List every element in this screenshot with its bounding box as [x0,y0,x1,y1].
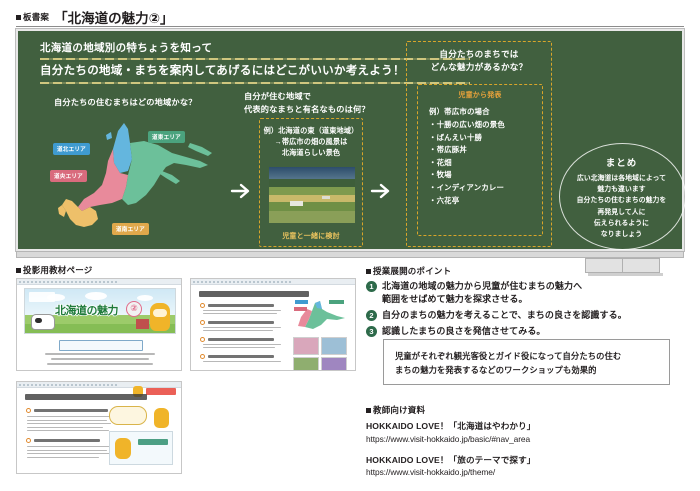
thumb3-text-line [27,453,111,454]
summary-body: 広い北海道は各地域によって 魅力も違います 自分たちの住むまちの魅力を 再発見し… [559,173,684,240]
thumb2-map-icon [293,299,347,333]
arrow-right-icon-2 [370,181,396,201]
question-middle-line1: 自分が住む地域で [244,91,370,104]
chalk-tray-shadow [588,273,663,276]
ideas-box: 児童から発表 例）帯広市の場合 ・十勝の広い畑の景色 ・ばんえい十勝 ・帯広豚丼… [406,41,552,247]
map-label-dohoku: 道北エリア [53,143,90,155]
thumb1-button [59,340,143,351]
point-text: 自分のまちの魅力を考えることで、まちの良さを認識する。 [382,309,627,322]
example-box-text: 例）北海道の東（道東地域） →帯広市の畑の風景は 北海道らしい景色 [260,125,362,158]
ideas-list-item: ・帯広豚丼 [429,144,542,157]
hero-title: 北海道の魅力 [55,302,118,318]
thumb2-text-line [203,330,273,331]
projection-heading: 投影用教材ページ [16,264,92,276]
teacher-refs-heading-text: 教師向け資料 [373,404,425,416]
teacher-ref-item: HOKKAIDO LOVE！「北海道はやわかり」 https://www.vis… [366,420,686,444]
summary-title: まとめ [559,155,684,169]
example-line1: 例）北海道の東（道東地域） [260,125,362,136]
thumb-toolbar [191,279,355,285]
hero-barn [136,319,149,329]
ideas-example-title: 例）帯広市の場合 [429,106,542,117]
question-middle: 自分が住む地域で 代表的なまちと有名なものは何？ [244,91,370,116]
thumb2-text-line [203,313,277,314]
thumb1-text-line [47,363,153,365]
point-item: 1 北海道の地域の魅力から児童が住むまちの魅力へ 範囲をせばめて魅力を探求させる… [366,280,686,306]
teacher-ref-url[interactable]: https://www.visit-hokkaido.jp/theme/ [366,467,686,477]
summary-line: 伝えられるように [559,218,684,229]
thumb3-bullet-icon [26,408,31,413]
thumb3-text-line [27,430,109,431]
thumb3-bullet-icon [26,438,31,443]
hero-badge: ② [126,301,142,317]
bullet-square-icon [366,269,371,274]
thumb1-hero-banner: 北海道の魅力 ② [24,288,176,334]
thumb3-mascot [154,408,169,428]
ideas-list-item: ・花畑 [429,157,542,170]
ideas-box-inner: 児童から発表 例）帯広市の場合 ・十勝の広い畑の景色 ・ばんえい十勝 ・帯広豚丼… [417,84,543,236]
question-left: 自分たちの住むまちはどの地域かな？ [54,97,197,110]
arrow-right-icon-1 [230,181,256,201]
example-line3: 北海道らしい景色 [260,147,362,158]
projection-thumbnail-3[interactable] [16,381,182,474]
example-box-caption: 児童と一緒に検討 [260,231,362,241]
map-island-etorofu [160,171,180,184]
thumb2-text-line [203,344,281,345]
thumb2-title [199,291,309,297]
thumb3-text-line [27,427,103,428]
projection-thumbnail-2[interactable] [190,278,356,371]
teacher-ref-title: HOKKAIDO LOVE！「北海道はやわかり」 [366,420,686,432]
thumb1-text-line [51,358,149,360]
thumb2-heading-line [208,355,274,358]
thumb3-text-line [27,446,111,447]
thumb2-text-line [203,310,281,311]
projection-thumbnail-1[interactable]: 北海道の魅力 ② [16,278,182,371]
page-title-text: 「北海道の魅力②」 [54,7,173,27]
chalkboard-frame-bottom [16,251,684,258]
thumb3-card-logo [138,439,168,445]
teacher-ref-item: HOKKAIDO LOVE！「旅のテーマで探す」 https://www.vis… [366,454,686,478]
map-label-doto: 道東エリア [148,131,185,143]
photo-field-band-4 [269,211,355,223]
ideas-list-item: ・牧場 [429,169,542,182]
points-list: 1 北海道の地域の魅力から児童が住むまちの魅力へ 範囲をせばめて魅力を探求させる… [366,280,686,341]
thumb2-bullet-icon [200,354,205,359]
hero-mascot [150,303,170,331]
teacher-refs-list: HOKKAIDO LOVE！「北海道はやわかり」 https://www.vis… [366,420,686,487]
map-label-doou: 道央エリア [50,170,87,182]
thumb-toolbar-dots [19,384,117,386]
map-label-donan: 道南エリア [112,223,149,235]
point-text: 北海道の地域の魅力から児童が住むまちの魅力へ 範囲をせばめて魅力を探求させる。 [382,280,582,306]
summary-line: なりましょう [559,229,684,240]
bullet-square-icon [366,408,371,413]
thumb-toolbar-dots [193,281,291,283]
ideas-list-item: ・六花亭 [429,195,542,208]
thumb3-text-line [27,420,107,421]
thumb2-photo [293,357,319,371]
hokkaido-map: 道北エリア 道央エリア 道東エリア 道南エリア [40,113,225,248]
projection-heading-text: 投影用教材ページ [23,264,92,276]
thumb-toolbar-dots [19,281,117,283]
bullet-square-icon [16,268,21,273]
point-number: 2 [366,310,377,321]
page-title-marker: 板書案 [23,11,49,23]
points-heading-text: 授業展開のポイント [373,265,451,277]
chalk-tray-slot [623,259,659,272]
question-middle-line2: 代表的なまちと有名なものは何？ [244,104,370,117]
thumb3-logo-card [109,431,173,465]
hero-logo [29,292,55,302]
map-island-kunashiri [188,143,212,156]
thumb3-heading-line [34,439,100,442]
summary-line: 自分たちの住むまちの魅力を [559,195,684,206]
worksheet-page: 板書案 「北海道の魅力②」 北海道の地域別の特ちょうを知って 自分たちの地域・ま… [0,0,700,491]
thumb3-heading-line [34,409,108,412]
thumb3-title [25,394,147,400]
points-note-box: 児童がそれぞれ観光客役とガイド役になって自分たちの住む まちの魅力を発表するなど… [383,339,670,385]
thumb1-text-line [45,353,155,355]
chalk-tray-slot [586,259,623,272]
points-heading: 授業展開のポイント [366,265,451,277]
photo-farmhouse-2 [322,196,330,199]
point-number: 1 [366,281,377,292]
thumb2-heading-line [208,321,274,324]
bullet-square-icon [16,15,21,20]
hero-cow [31,314,55,330]
thumb2-heading-line [208,338,274,341]
thumb2-photo [321,337,347,355]
point-text: 認識したまちの良さを発信させてみる。 [382,325,546,338]
summary-circle: まとめ 広い北海道は各地域によって 魅力も違います 自分たちの住むまちの魅力を … [559,143,684,248]
thumb-toolbar [17,279,181,285]
thumb3-card-mascot [115,438,131,459]
thumb2-text-line [203,327,281,328]
ideas-list-item: ・十勝の広い畑の景色 [429,119,542,132]
map-region-dohoku-island [106,132,112,140]
ideas-list-item: ・ばんえい十勝 [429,132,542,145]
thumb2-photo [321,357,347,371]
thumb2-photo [293,337,319,355]
thumb3-text-line [27,457,99,458]
ideas-tag: 児童から発表 [418,90,542,100]
summary-line: 広い北海道は各地域によって [559,173,684,184]
thumb2-bullet-icon [200,337,205,342]
summary-line: 魅力も違います [559,184,684,195]
hero-cloud [137,295,153,301]
thumb3-logo [146,388,176,395]
thumb2-bullet-icon [200,303,205,308]
thumb2-heading-line [208,304,274,307]
thumb2-text-line [203,347,275,348]
hero-cloud [85,292,107,300]
thumb3-text-line [27,416,111,417]
map-region-dohoku [113,123,132,173]
point-number: 3 [366,326,377,337]
teacher-ref-title: HOKKAIDO LOVE！「旅のテーマで探す」 [366,454,686,466]
example-line2: →帯広市の畑の風景は [260,136,362,147]
teacher-ref-url[interactable]: https://www.visit-hokkaido.jp/basic/#nav… [366,434,686,444]
ideas-list: ・十勝の広い畑の景色 ・ばんえい十勝 ・帯広豚丼 ・花畑 ・牧場 ・インディアン… [418,119,542,207]
thumb2-text-line [203,361,281,362]
thumb3-speech-bubble [109,406,147,425]
photo-farmhouse-1 [290,201,304,206]
title-divider [16,26,684,27]
teacher-refs-heading: 教師向け資料 [366,404,425,416]
summary-line: 再発見して人に [559,207,684,218]
thumb2-bullet-icon [200,320,205,325]
example-box: 例）北海道の東（道東地域） →帯広市の畑の風景は 北海道らしい景色 児童と一緒に… [259,118,363,247]
point-item: 2 自分のまちの魅力を考えることで、まちの良さを認識する。 [366,309,686,322]
points-note-text: 児童がそれぞれ観光客役とガイド役になって自分たちの住む まちの魅力を発表するなど… [384,340,669,377]
page-title: 板書案 「北海道の魅力②」 [16,7,174,27]
chalk-tray [585,258,660,273]
chalkboard: 北海道の地域別の特ちょうを知って 自分たちの地域・まちを案内してあげるにはどこが… [16,29,684,251]
thumb3-text-line [27,423,111,424]
farmland-photo [269,167,355,223]
thumb3-text-line [27,450,107,451]
point-item: 3 認識したまちの良さを発信させてみる。 [366,325,686,338]
ideas-list-item: ・インディアンカレー [429,182,542,195]
